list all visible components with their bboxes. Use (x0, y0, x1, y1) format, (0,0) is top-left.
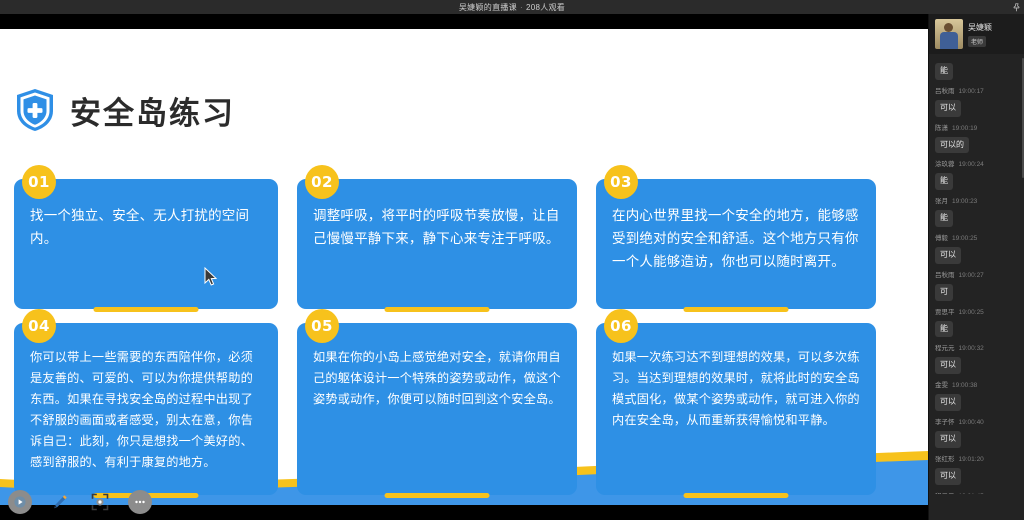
message-bubble: 可以 (935, 100, 961, 117)
chat-panel: 吴婕颖 老师 能 吕秋雨19:00:17 可以 陈潇19:00:19 可以的 (928, 14, 1024, 520)
step-card-04: 04 你可以带上一些需要的东西陪伴你，必须是友善的、可爱的、可以为你提供帮助的东… (14, 323, 278, 495)
pen-button[interactable] (48, 490, 72, 514)
chat-message: 傅毅19:00:25 可以 (935, 232, 1018, 264)
message-bubble: 能 (935, 210, 953, 227)
step-card-03: 03 在内心世界里找一个安全的地方，能够感受到绝对的安全和舒适。这个地方只有你一… (596, 179, 876, 309)
message-time: 19:00:32 (959, 345, 984, 352)
message-bubble: 能 (935, 321, 953, 338)
message-time: 19:00:38 (952, 382, 977, 389)
live-class-app: 吴婕颖的直播课·208人观看 (0, 0, 1024, 520)
message-bubble: 可以 (935, 394, 961, 411)
chat-message: 吕秋雨19:00:27 可 (935, 269, 1018, 301)
title-separator: · (520, 3, 523, 12)
message-time: 19:00:25 (959, 309, 984, 316)
message-author: 吕秋雨 (935, 272, 955, 279)
message-author: 陈潇 (935, 125, 948, 132)
step-text: 在内心世界里找一个安全的地方，能够感受到绝对的安全和舒适。这个地方只有你一个人能… (612, 205, 862, 275)
message-meta: 李子怀19:00:40 (935, 416, 1018, 426)
step-badge: 05 (305, 309, 339, 343)
message-bubble: 可 (935, 284, 953, 301)
message-bubble: 可以 (935, 357, 961, 374)
chat-message: 涂玖蓉19:00:24 能 (935, 158, 1018, 190)
step-card-01: 01 找一个独立、安全、无人打扰的空间内。 (14, 179, 278, 309)
message-meta: 吕秋雨19:00:27 (935, 269, 1018, 279)
message-meta: 金雯19:00:38 (935, 379, 1018, 389)
presentation-stage: 安全岛练习 01 找一个独立、安全、无人打扰的空间内。 02 调整呼吸，将平时的… (0, 14, 928, 520)
chat-message: 程元元19:00:32 可以 (935, 342, 1018, 374)
step-badge: 01 (22, 165, 56, 199)
play-button[interactable] (8, 490, 32, 514)
screenshot-button[interactable] (88, 490, 112, 514)
shield-plus-icon (14, 87, 56, 133)
message-author: 金雯 (935, 382, 948, 389)
step-badge: 04 (22, 309, 56, 343)
window-title-text: 吴婕颖的直播课 (459, 3, 517, 12)
message-time: 19:00:40 (959, 419, 984, 426)
chat-message: 李子怀19:00:40 可以 (935, 416, 1018, 448)
message-author: 张红形 (935, 456, 955, 463)
step-card-06: 06 如果一次练习达不到理想的效果，可以多次练习。当达到理想的效果时，就将此时的… (596, 323, 876, 495)
step-text: 如果在你的小岛上感觉绝对安全，就请你用自己的躯体设计一个特殊的姿势或动作，做这个… (313, 347, 563, 410)
step-text: 找一个独立、安全、无人打扰的空间内。 (30, 205, 264, 251)
message-bubble: 可以的 (935, 137, 969, 154)
message-meta: 傅毅19:00:25 (935, 232, 1018, 242)
step-underline (385, 493, 490, 498)
message-meta: 张红形19:01:20 (935, 453, 1018, 463)
chat-message: 张红形19:01:20 可以 (935, 453, 1018, 485)
chat-message-list[interactable]: 能 吕秋雨19:00:17 可以 陈潇19:00:19 可以的 涂玖蓉19:00… (929, 54, 1024, 494)
pencil-icon (50, 492, 70, 512)
screenshot-icon (90, 492, 110, 512)
chat-message: 张月19:00:23 能 (935, 195, 1018, 227)
step-badge: 02 (305, 165, 339, 199)
message-bubble: 可以 (935, 247, 961, 264)
host-name: 吴婕颖 (968, 22, 992, 33)
message-time: 19:00:17 (959, 88, 984, 95)
chat-message: 程元元19:01:45 请讲，你讲完结束的时候，句 (935, 490, 1018, 494)
step-underline (684, 307, 789, 312)
message-author: 涂玖蓉 (935, 161, 955, 168)
message-meta: 陈潇19:00:19 (935, 122, 1018, 132)
message-meta: 程元元19:00:32 (935, 342, 1018, 352)
step-underline (385, 307, 490, 312)
message-meta: 贾思平19:00:25 (935, 306, 1018, 316)
chat-message: 贾思平19:00:25 能 (935, 306, 1018, 338)
message-author: 程元元 (935, 345, 955, 352)
window-title: 吴婕颖的直播课·208人观看 (459, 2, 565, 13)
message-bubble: 可以 (935, 468, 961, 485)
practice-step-grid: 01 找一个独立、安全、无人打扰的空间内。 02 调整呼吸，将平时的呼吸节奏放慢… (14, 179, 894, 495)
titlebar-actions (1011, 0, 1022, 14)
message-author: 贾思平 (935, 309, 955, 316)
message-author: 张月 (935, 198, 948, 205)
message-author: 李子怀 (935, 419, 955, 426)
message-time: 19:00:27 (959, 272, 984, 279)
page-title: 安全岛练习 (70, 88, 235, 133)
chat-message: 吕秋雨19:00:17 可以 (935, 85, 1018, 117)
avatar (935, 19, 963, 49)
chat-host-header: 吴婕颖 老师 (929, 14, 1024, 54)
slide-canvas: 安全岛练习 01 找一个独立、安全、无人打扰的空间内。 02 调整呼吸，将平时的… (0, 29, 928, 505)
host-role-badge: 老师 (968, 36, 986, 47)
chat-message: 金雯19:00:38 可以 (935, 379, 1018, 411)
message-author: 傅毅 (935, 235, 948, 242)
slide-header: 安全岛练习 (14, 87, 235, 133)
message-meta: 张月19:00:23 (935, 195, 1018, 205)
step-card-02: 02 调整呼吸，将平时的呼吸节奏放慢，让自己慢慢平静下来，静下心来专注于呼吸。 (297, 179, 577, 309)
chat-message: 能 (935, 60, 1018, 80)
avatar-body (940, 32, 958, 49)
message-time: 19:00:24 (959, 161, 984, 168)
step-underline (684, 493, 789, 498)
message-time: 19:00:25 (952, 235, 977, 242)
message-bubble: 能 (935, 63, 953, 80)
host-meta: 吴婕颖 老师 (968, 22, 992, 47)
step-card-05: 05 如果在你的小岛上感觉绝对安全，就请你用自己的躯体设计一个特殊的姿势或动作，… (297, 323, 577, 495)
play-icon (14, 496, 26, 508)
step-badge: 03 (604, 165, 638, 199)
message-meta: 涂玖蓉19:00:24 (935, 158, 1018, 168)
message-bubble: 可以 (935, 431, 961, 448)
avatar-head (944, 23, 953, 32)
message-meta: 吕秋雨19:00:17 (935, 85, 1018, 95)
step-underline (94, 307, 199, 312)
message-author: 程元元 (935, 493, 955, 494)
slide-toolbar (8, 490, 152, 514)
message-bubble: 能 (935, 173, 953, 190)
viewer-count: 208人观看 (526, 3, 565, 12)
pin-icon[interactable] (1011, 2, 1022, 13)
chat-message: 陈潇19:00:19 可以的 (935, 122, 1018, 154)
step-text: 你可以带上一些需要的东西陪伴你，必须是友善的、可爱的、可以为你提供帮助的东西。如… (30, 347, 264, 473)
message-author: 吕秋雨 (935, 88, 955, 95)
window-titlebar: 吴婕颖的直播课·208人观看 (0, 0, 1024, 14)
message-time: 19:01:45 (959, 493, 984, 494)
ellipsis-icon (133, 495, 147, 509)
message-time: 19:00:23 (952, 198, 977, 205)
message-meta: 程元元19:01:45 (935, 490, 1018, 494)
message-time: 19:01:20 (959, 456, 984, 463)
step-badge: 06 (604, 309, 638, 343)
step-text: 调整呼吸，将平时的呼吸节奏放慢，让自己慢慢平静下来，静下心来专注于呼吸。 (313, 205, 563, 251)
more-button[interactable] (128, 490, 152, 514)
step-text: 如果一次练习达不到理想的效果，可以多次练习。当达到理想的效果时，就将此时的安全岛… (612, 347, 862, 431)
message-time: 19:00:19 (952, 125, 977, 132)
